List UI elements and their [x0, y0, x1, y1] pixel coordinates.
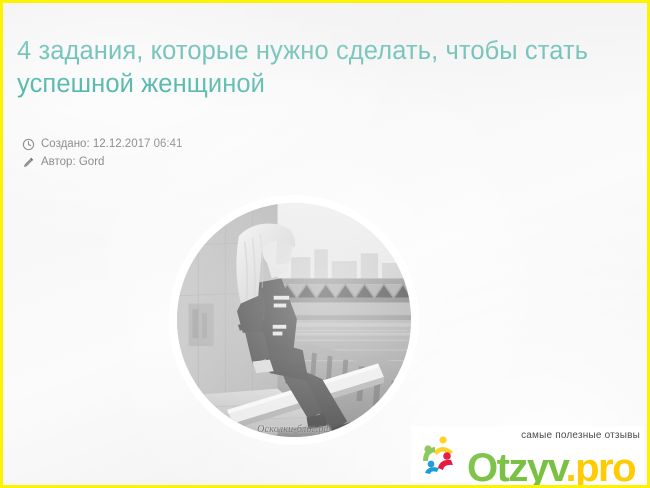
- image-content: Осколки-блог.рф: [177, 203, 411, 437]
- article-image: Осколки-блог.рф: [173, 199, 415, 441]
- article-meta: Создано: 12.12.2017 06:41 Автор: Gord: [22, 135, 182, 171]
- logo-tagline: самые полезные отзывы: [521, 430, 640, 441]
- meta-author-text: Автор: Gord: [41, 153, 104, 171]
- logo-word-green: Otzyv: [467, 446, 565, 488]
- logo-wordmark: Otzyv.pro: [467, 448, 635, 488]
- logo-word-yellow: .pro: [565, 446, 635, 488]
- site-logo[interactable]: самые полезные отзывы Otzyv.pro: [411, 426, 644, 482]
- people-circle-icon: [420, 435, 466, 475]
- clock-icon: [22, 138, 35, 151]
- meta-author: Автор: Gord: [22, 153, 182, 171]
- page-title: 4 задания, которые нужно сделать, чтобы …: [17, 35, 597, 101]
- image-watermark: Осколки-блог.рф: [177, 424, 411, 435]
- meta-created-text: Создано: 12.12.2017 06:41: [41, 135, 182, 153]
- article-preview-page: 4 задания, которые нужно сделать, чтобы …: [0, 0, 650, 488]
- pencil-icon: [22, 156, 35, 169]
- meta-created: Создано: 12.12.2017 06:41: [22, 135, 182, 153]
